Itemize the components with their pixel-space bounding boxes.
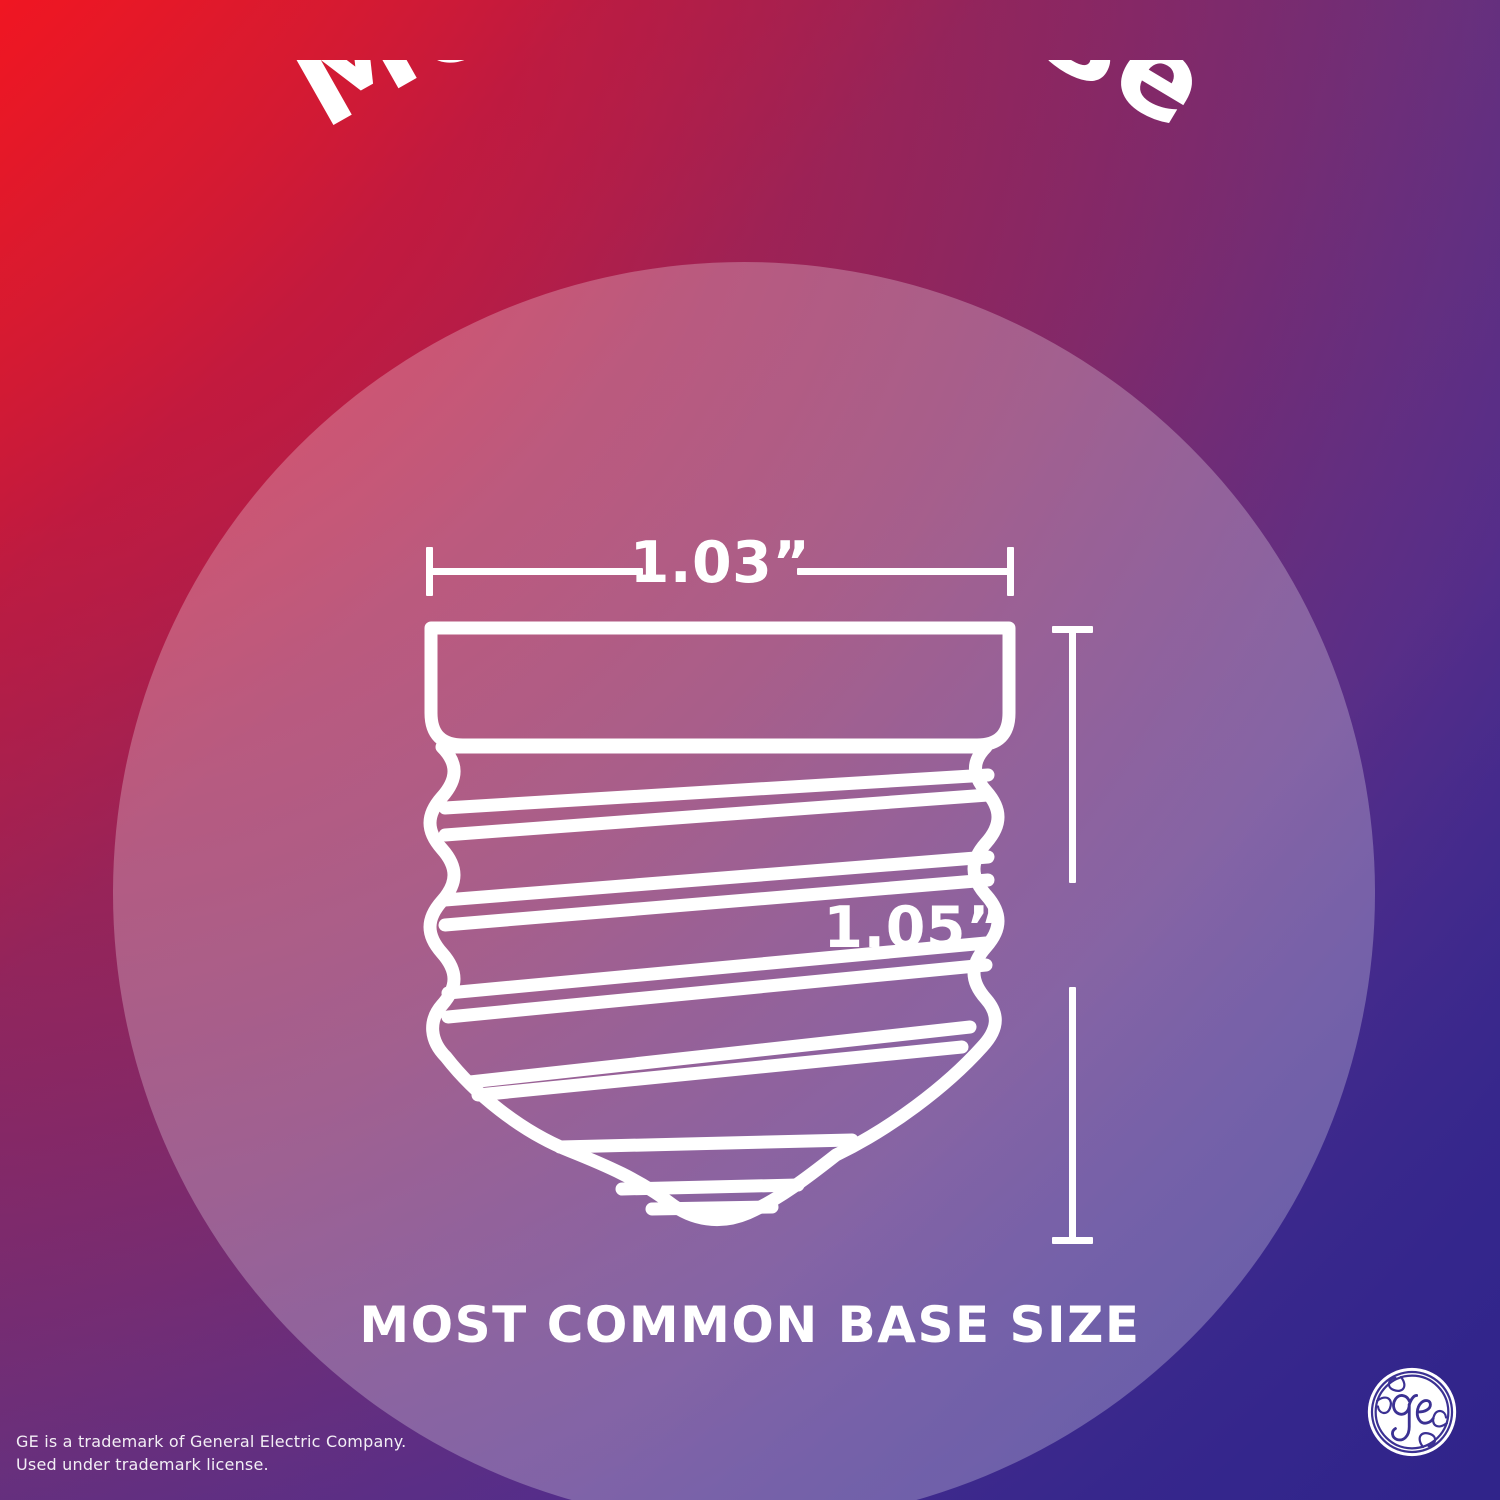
edison-screw-base-icon	[400, 595, 1040, 1255]
height-dimension-rule-bottom	[1069, 987, 1076, 1242]
height-dimension-cap-bottom	[1052, 1237, 1093, 1244]
width-dimension-label: 1.03”	[630, 530, 811, 596]
height-dimension-rule-top	[1069, 628, 1076, 883]
legal-line-2: Used under trademark license.	[16, 1453, 406, 1476]
height-dimension: 1.05”	[1052, 620, 1092, 1250]
thread-line-3	[445, 857, 988, 900]
legal-line-1: GE is a trademark of General Electric Co…	[16, 1430, 406, 1453]
tip-line-2	[622, 1185, 798, 1189]
poster-canvas: Medium Base 1.03” 1.05”	[0, 0, 1500, 1500]
page-title: Medium Base	[0, 60, 1500, 480]
ge-logo	[1366, 1366, 1458, 1458]
width-dimension-cap-right	[1007, 547, 1014, 596]
legal-notice: GE is a trademark of General Electric Co…	[16, 1430, 406, 1476]
base-collar	[431, 628, 1009, 745]
width-dimension-rule-left	[428, 568, 643, 575]
tip-line-3	[652, 1207, 772, 1209]
page-title-text: Medium Base	[270, 60, 1232, 155]
width-dimension-rule-right	[797, 568, 1012, 575]
tip-line-1	[560, 1140, 852, 1147]
thread-line-4	[445, 880, 988, 925]
caption: MOST COMMON BASE SIZE	[0, 1296, 1500, 1354]
